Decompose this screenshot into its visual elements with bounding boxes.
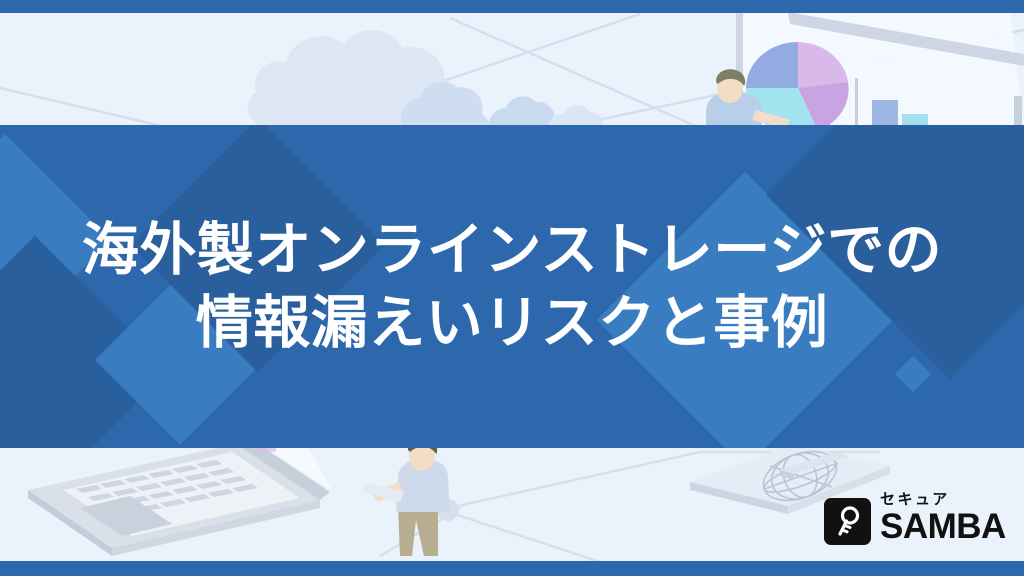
bottom-accent-bar <box>0 561 1024 576</box>
logo-name-text: SAMBA <box>880 509 1006 544</box>
logo-wordmark: セキュア SAMBA <box>880 492 1006 545</box>
key-icon <box>833 506 863 538</box>
title-line-2: 情報漏えいリスクと事例 <box>196 287 829 359</box>
title-line-1: 海外製オンラインストレージでの <box>82 214 942 286</box>
secure-samba-logo: セキュア SAMBA <box>824 492 1006 545</box>
logo-mark <box>824 498 871 545</box>
slide-title: 海外製オンラインストレージでの 情報漏えいリスクと事例 <box>0 125 1024 448</box>
title-band: 海外製オンラインストレージでの 情報漏えいリスクと事例 <box>0 125 1024 448</box>
logo-kana-text: セキュア <box>880 492 1006 507</box>
slide-canvas: 海外製オンラインストレージでの 情報漏えいリスクと事例 セキュア SAMBA <box>0 0 1024 576</box>
top-accent-bar <box>0 0 1024 13</box>
